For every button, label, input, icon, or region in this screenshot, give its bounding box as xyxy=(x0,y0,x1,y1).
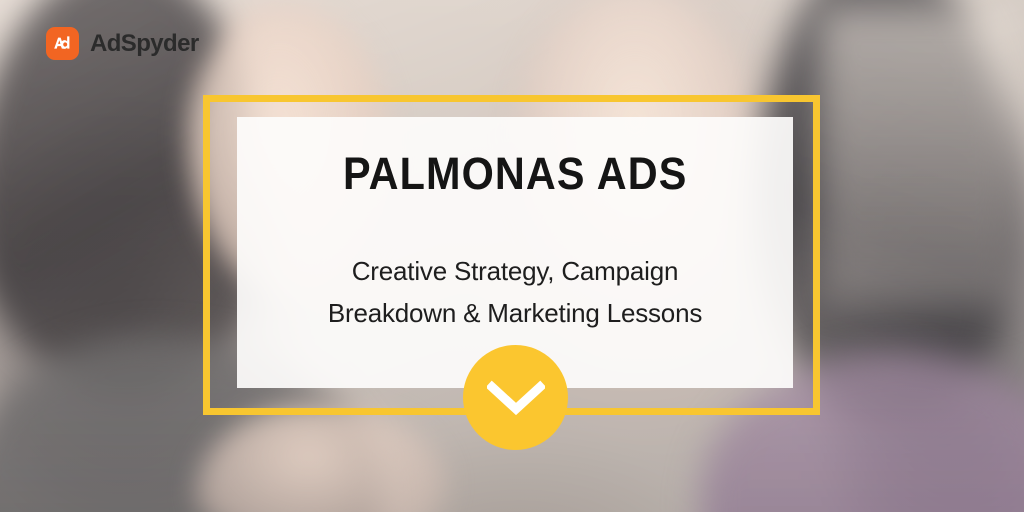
brand-logo[interactable]: AdSpyder xyxy=(46,27,199,60)
banner-canvas: AdSpyder PALMONAS ADS Creative Strategy,… xyxy=(0,0,1024,512)
page-title: PALMONAS ADS xyxy=(343,151,687,196)
scroll-down-button[interactable] xyxy=(463,345,568,450)
brand-wordmark: AdSpyder xyxy=(90,32,199,56)
adspyder-ad-mark-icon xyxy=(46,27,79,60)
subtitle-line-2: Breakdown & Marketing Lessons xyxy=(328,293,702,335)
chevron-down-icon xyxy=(487,380,545,416)
subtitle-line-1: Creative Strategy, Campaign xyxy=(328,251,702,293)
page-subtitle: Creative Strategy, Campaign Breakdown & … xyxy=(328,251,702,334)
